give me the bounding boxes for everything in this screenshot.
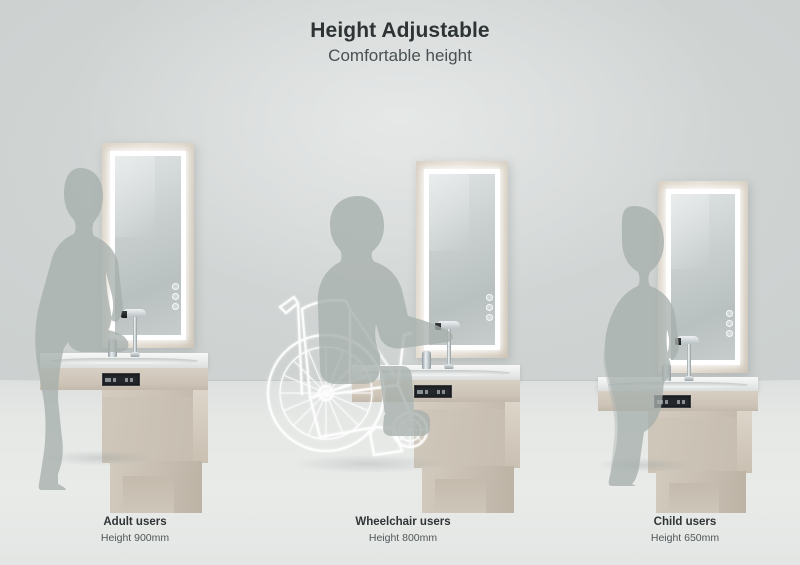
page-subtitle: Comfortable height	[0, 45, 800, 67]
page-title: Height Adjustable	[0, 18, 800, 44]
poster-header: Height Adjustable Comfortable height	[0, 18, 800, 67]
mirror-touch-controls[interactable]	[726, 310, 733, 337]
caption-title: Adult users	[0, 515, 270, 531]
caption-wheelchair: Wheelchair users Height 800mm	[288, 515, 518, 545]
mirror-touch-controls[interactable]	[486, 294, 493, 321]
plinth-recess	[123, 476, 175, 513]
panel-down-button-icon[interactable]	[130, 378, 133, 382]
caption-child: Child users Height 650mm	[570, 515, 800, 545]
faucet-column	[687, 344, 691, 377]
mirror-button-demist-icon[interactable]	[172, 303, 179, 310]
mirror-button-brightness-icon[interactable]	[172, 293, 179, 300]
cabinet-side-panel	[737, 411, 752, 473]
mirror-button-power-icon[interactable]	[172, 283, 179, 290]
caption-subtitle: Height 900mm	[0, 531, 270, 545]
scene-child-users	[560, 70, 800, 565]
mirror-button-brightness-icon[interactable]	[486, 304, 493, 311]
mirror-button-power-icon[interactable]	[486, 294, 493, 301]
cabinet-side-panel	[193, 390, 208, 463]
faucet-base	[684, 376, 693, 381]
scene-adult-users	[0, 70, 270, 565]
caption-title: Child users	[570, 515, 800, 531]
mirror-button-brightness-icon[interactable]	[726, 320, 733, 327]
plinth-recess	[435, 479, 487, 513]
mirror-button-power-icon[interactable]	[726, 310, 733, 317]
caption-title: Wheelchair users	[288, 515, 518, 531]
caption-subtitle: Height 800mm	[288, 531, 518, 545]
faucet-column	[133, 317, 137, 353]
scene-wheelchair-users	[258, 70, 548, 565]
mirror-button-demist-icon[interactable]	[726, 330, 733, 337]
mirror-button-demist-icon[interactable]	[486, 314, 493, 321]
panel-down-button-icon[interactable]	[682, 400, 685, 404]
cabinet-side-panel	[505, 402, 520, 468]
standing-adult-silhouette	[18, 152, 130, 492]
faucet-base	[131, 352, 140, 357]
seated-wheelchair-silhouette	[284, 188, 454, 448]
mirror-touch-controls[interactable]	[172, 283, 179, 310]
caption-subtitle: Height 650mm	[570, 531, 800, 545]
caption-adult: Adult users Height 900mm	[0, 515, 270, 545]
standing-child-silhouette	[582, 198, 682, 490]
poster-canvas: Height Adjustable Comfortable height	[0, 0, 800, 565]
